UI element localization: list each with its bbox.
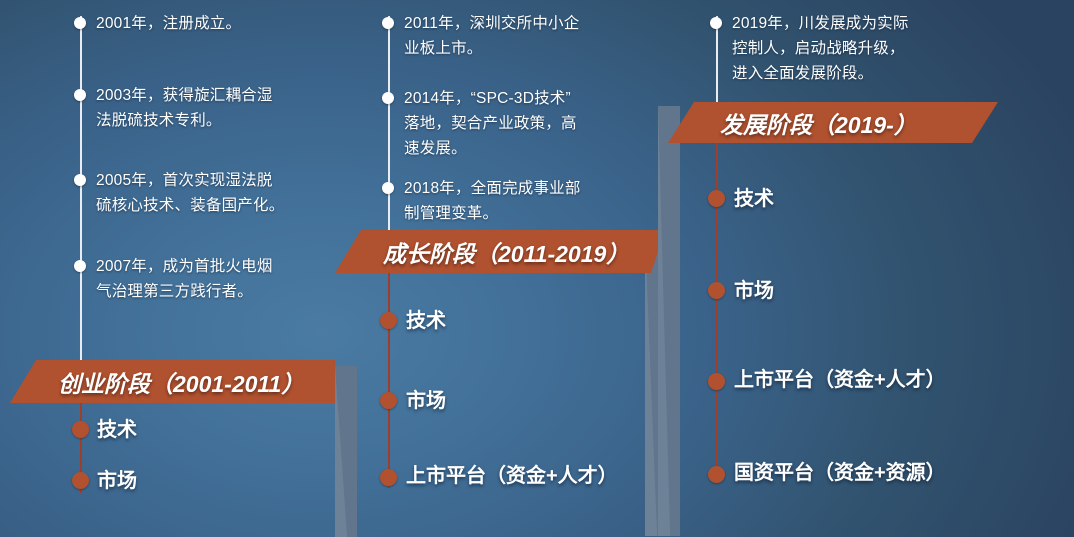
event-bullet-growth-2: [382, 92, 394, 104]
timeline-rail-growth-lower: [388, 273, 390, 488]
capability-label-startup-1: 技术: [97, 419, 137, 441]
event-text-growth-1: 2011年，深圳交所中小企 业板上市。: [404, 11, 644, 61]
capability-label-startup-2: 市场: [97, 470, 137, 492]
stage-banner-growth[interactable]: 成长阶段（2011-2019）: [335, 230, 665, 273]
event-bullet-startup-3: [74, 174, 86, 186]
capability-bullet-startup-2: [72, 472, 89, 489]
capability-label-development-1: 技术: [734, 188, 774, 210]
event-bullet-startup-1: [74, 17, 86, 29]
event-text-growth-3: 2018年，全面完成事业部 制管理变革。: [404, 176, 644, 226]
stage-banner-development[interactable]: 发展阶段（2019-）: [668, 102, 998, 143]
capability-label-development-3: 上市平台（资金+人才）: [734, 369, 946, 391]
stage-banner-startup[interactable]: 创业阶段（2001-2011）: [10, 360, 335, 403]
capability-bullet-growth-2: [380, 392, 397, 409]
timeline-slide: 2001年，注册成立。 2003年，获得旋汇耦合湿 法脱硫技术专利。 2005年…: [0, 0, 1074, 537]
capability-bullet-development-4: [708, 466, 725, 483]
capability-label-development-4: 国资平台（资金+资源）: [734, 462, 946, 484]
capability-bullet-growth-1: [380, 312, 397, 329]
event-bullet-growth-1: [382, 17, 394, 29]
capability-label-growth-3: 上市平台（资金+人才）: [406, 465, 618, 487]
capability-label-development-2: 市场: [734, 280, 774, 302]
capability-bullet-development-1: [708, 190, 725, 207]
event-text-startup-3: 2005年，首次实现湿法脱 硫核心技术、装备国产化。: [96, 168, 336, 218]
event-bullet-growth-3: [382, 182, 394, 194]
stage-banner-title-growth: 成长阶段（2011-2019）: [383, 235, 629, 269]
event-text-startup-4: 2007年，成为首批火电烟 气治理第三方践行者。: [96, 254, 336, 304]
timeline-rail-startup-upper: [80, 16, 82, 366]
capability-label-growth-1: 技术: [406, 310, 446, 332]
timeline-rail-development-upper: [716, 16, 718, 106]
stage-banner-title-development: 发展阶段（2019-）: [720, 106, 917, 140]
event-bullet-startup-2: [74, 89, 86, 101]
event-text-development-1: 2019年，川发展成为实际 控制人，启动战略升级， 进入全面发展阶段。: [732, 11, 982, 86]
capability-bullet-startup-1: [72, 421, 89, 438]
capability-bullet-growth-3: [380, 469, 397, 486]
event-bullet-startup-4: [74, 260, 86, 272]
capability-bullet-development-3: [708, 373, 725, 390]
event-text-startup-2: 2003年，获得旋汇耦合湿 法脱硫技术专利。: [96, 83, 331, 133]
capability-label-growth-2: 市场: [406, 390, 446, 412]
event-bullet-development-1: [710, 17, 722, 29]
capability-bullet-development-2: [708, 282, 725, 299]
event-text-startup-1: 2001年，注册成立。: [96, 11, 331, 36]
timeline-rail-growth-upper: [388, 16, 390, 236]
event-text-growth-2: 2014年，“SPC-3D技术” 落地，契合产业政策，高 速发展。: [404, 86, 644, 161]
stage-banner-title-startup: 创业阶段（2001-2011）: [58, 365, 304, 399]
